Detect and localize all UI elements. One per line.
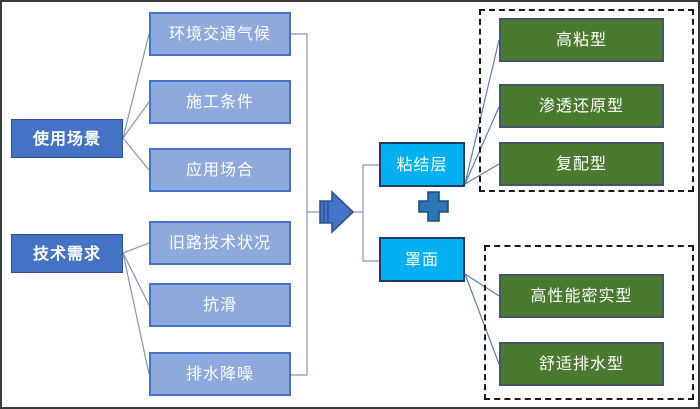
right-arrow-icon [320,192,353,232]
plus-icon [419,192,448,221]
layers-bracket [350,165,379,261]
node-old-road-condition[interactable]: 旧路技术状况 [149,221,291,265]
edge-tech-to-skid [123,253,149,305]
node-penetrating-restorative[interactable]: 渗透还原型 [499,84,664,128]
node-technical-demand[interactable]: 技术需求 [11,234,123,273]
node-usage-scenario[interactable]: 使用场景 [11,119,123,158]
edge-usage-to-occasion [123,138,149,170]
node-env-traffic-climate[interactable]: 环境交通气候 [149,12,291,56]
node-high-viscosity[interactable]: 高粘型 [499,18,664,62]
edge-usage-to-construction [123,102,149,138]
node-application-occasion[interactable]: 应用场合 [149,148,291,192]
node-skid-resistance[interactable]: 抗滑 [149,283,291,327]
node-construction-condition[interactable]: 施工条件 [149,80,291,124]
factors-bracket [291,34,320,375]
node-compound[interactable]: 复配型 [499,142,664,186]
node-bonding-layer[interactable]: 粘结层 [379,142,465,187]
node-drainage-noise[interactable]: 排水降噪 [149,352,291,396]
edge-tech-to-oldroad [123,243,149,253]
edge-tech-to-drainage [123,253,149,374]
diagram-canvas: 使用场景 技术需求 环境交通气候 施工条件 应用场合 旧路技术状况 抗滑 排水降… [0,0,700,409]
node-high-performance-dense[interactable]: 高性能密实型 [499,274,664,318]
node-surface-course[interactable]: 罩面 [379,237,465,282]
node-comfort-drainage[interactable]: 舒适排水型 [499,342,664,386]
edge-usage-to-env [123,34,149,138]
